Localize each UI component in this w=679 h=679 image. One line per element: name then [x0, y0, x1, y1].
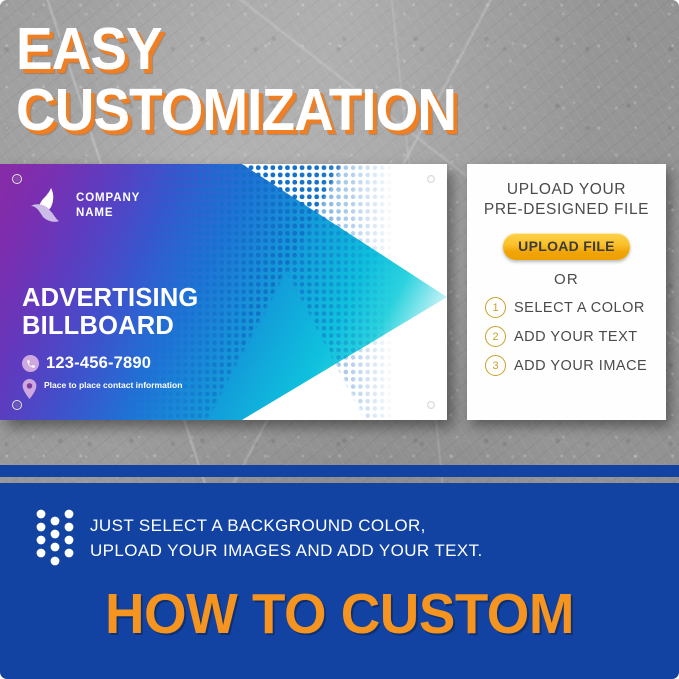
step-number-badge: 3 — [485, 355, 506, 376]
billboard-address-row: Place to place contact information — [22, 380, 182, 399]
step-number-badge: 1 — [485, 297, 506, 318]
banner-message-line-1: JUST SELECT A BACKGROUND COLOR, — [90, 513, 483, 539]
billboard-title-line-2: BILLBOARD — [22, 312, 198, 340]
grommet-bottom-left-icon — [12, 400, 22, 410]
billboard-mockup: COMPANY NAME ADVERTISING BILLBOARD 123-4… — [0, 164, 447, 420]
location-pin-icon — [22, 379, 37, 399]
blue-accent-strip — [0, 465, 679, 477]
card-heading-line-1: UPLOAD YOUR — [484, 180, 649, 200]
billboard-phone-number: 123-456-7890 — [46, 354, 151, 373]
card-heading-line-2: PRE-DESIGNED FILE — [484, 200, 649, 220]
step-item-3[interactable]: 3 ADD YOUR IMACE — [485, 355, 666, 376]
billboard-address: Place to place contact information — [44, 380, 182, 391]
headline-line-2: CUSTOMIZATION — [16, 83, 456, 138]
grommet-bottom-right-icon — [426, 400, 436, 410]
step-item-2[interactable]: 2 ADD YOUR TEXT — [485, 326, 666, 347]
dot-grid-icon — [36, 508, 74, 568]
company-name-line-2: NAME — [76, 206, 140, 221]
step-item-1[interactable]: 1 SELECT A COLOR — [485, 297, 666, 318]
steps-list: 1 SELECT A COLOR 2 ADD YOUR TEXT 3 ADD Y… — [467, 297, 666, 384]
step-number-badge: 2 — [485, 326, 506, 347]
billboard-company-name: COMPANY NAME — [76, 191, 140, 220]
step-label: SELECT A COLOR — [514, 300, 645, 316]
company-name-line-1: COMPANY — [76, 191, 140, 206]
banner-message: JUST SELECT A BACKGROUND COLOR, UPLOAD Y… — [90, 513, 483, 564]
poster-canvas: EASY CUSTOMIZATION COMPANY NAME ADVERTIS… — [0, 0, 679, 679]
billboard-phone-row: 123-456-7890 — [22, 354, 151, 373]
card-heading: UPLOAD YOUR PRE-DESIGNED FILE — [484, 180, 649, 220]
step-label: ADD YOUR IMACE — [514, 358, 647, 374]
or-divider-label: OR — [554, 271, 579, 288]
grommet-top-left-icon — [12, 174, 22, 184]
billboard-title: ADVERTISING BILLBOARD — [22, 284, 198, 340]
headline-line-1: EASY — [16, 22, 456, 77]
footer-title: HOW TO CUSTOM — [14, 586, 666, 643]
banner-message-row: JUST SELECT A BACKGROUND COLOR, UPLOAD Y… — [36, 508, 483, 568]
grommet-top-right-icon — [426, 174, 436, 184]
banner-message-line-2: UPLOAD YOUR IMAGES AND ADD YOUR TEXT. — [90, 538, 483, 564]
billboard-title-line-1: ADVERTISING — [22, 284, 198, 312]
instruction-card: UPLOAD YOUR PRE-DESIGNED FILE UPLOAD FIL… — [467, 164, 666, 420]
upload-file-button[interactable]: UPLOAD FILE — [503, 233, 630, 260]
swirl-logo-icon — [26, 186, 70, 228]
step-label: ADD YOUR TEXT — [514, 329, 638, 345]
phone-icon — [22, 355, 39, 372]
headline: EASY CUSTOMIZATION — [16, 22, 489, 139]
